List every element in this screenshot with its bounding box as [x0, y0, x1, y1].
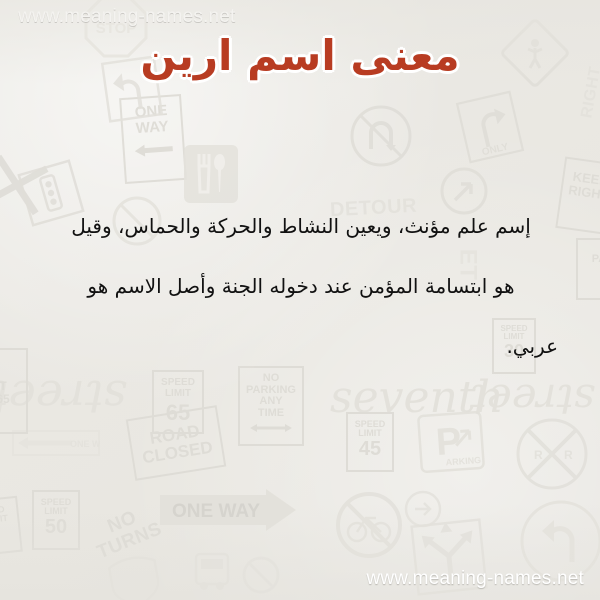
meaning-line: إسم علم مؤنث، ويعين النشاط والحركة والحم…: [44, 196, 558, 256]
sign-label: ROADCLOSED: [141, 421, 214, 467]
sign-no-parking: NOPARKINGANYTIME: [238, 366, 304, 446]
sign-road-closed: ROADCLOSED: [126, 405, 227, 481]
sign-value: 45: [348, 439, 392, 460]
sign-value: 65: [154, 401, 202, 424]
sign-partial-left-lower: EEDLIMIT: [0, 496, 23, 557]
sign-label: PA: [592, 253, 600, 265]
sign-one-way: ONEWAY: [119, 94, 187, 184]
name-meaning-text: إسم علم مؤنث، ويعين النشاط والحركة والحم…: [44, 196, 558, 376]
sign-rr-crossing: R R: [516, 418, 588, 490]
page-canvas: street seventh street ONEWAY: [0, 0, 600, 600]
sign-label: EEDLIMIT: [0, 504, 9, 526]
left-arrow-icon: [132, 140, 175, 159]
sign-parking: P ARKING: [416, 410, 486, 474]
sign-label: NOPARKINGANYTIME: [246, 372, 296, 419]
sign-one-way-arrow: ONE WAY: [158, 487, 298, 533]
sign-one-way-left: ONE WAY: [12, 430, 100, 456]
sign-no-turns: NOTURNS: [87, 501, 165, 563]
sign-bus: [192, 548, 232, 594]
sign-interstate-shield: [104, 552, 166, 600]
sign-food-services: [183, 144, 239, 204]
watermark-top-left: www.meaning-names.net: [18, 6, 236, 28]
sign-label: KEEPRIGHT: [567, 169, 600, 203]
svg-text:ONE WAY: ONE WAY: [70, 439, 100, 449]
sign-small-circle: [242, 556, 280, 594]
sign-partial-right: PA: [576, 238, 600, 300]
svg-text:P: P: [435, 420, 463, 464]
sign-right-turn-only: ONLY: [456, 90, 525, 163]
sign-right-arrow-circle: [404, 490, 442, 528]
sign-value: 50: [34, 517, 78, 538]
meaning-line: عربي.: [44, 316, 558, 376]
sign-label: SPEEDLIMIT: [161, 377, 195, 399]
sign-label: SPEEDLIMIT: [355, 419, 386, 438]
svg-text:ONE WAY: ONE WAY: [172, 501, 260, 522]
sign-partial-left: T65: [0, 348, 28, 434]
brand-ghost-text: street: [470, 375, 595, 424]
brand-ghost-text: seventh: [330, 372, 504, 423]
sign-label: T65: [0, 379, 10, 406]
sign-keep-right: KEEPRIGHT: [555, 156, 600, 235]
sign-no-u-turn: [350, 105, 412, 167]
sign-speed-limit-50: SPEEDLIMIT 50: [32, 490, 80, 550]
brand-ghost-text: street: [0, 370, 127, 424]
sign-label: ONEWAY: [122, 102, 182, 137]
svg-text:R: R: [534, 448, 543, 462]
sign-speed-limit-45: SPEEDLIMIT 45: [346, 412, 394, 472]
sign-label: SPEEDLIMIT: [41, 497, 72, 516]
meaning-line: هو ابتسامة المؤمن عند دخوله الجنة وأصل ا…: [44, 256, 558, 316]
svg-text:ONLY: ONLY: [481, 141, 510, 158]
svg-text:ARKING: ARKING: [445, 455, 481, 467]
double-arrow-icon: [249, 422, 293, 434]
sign-no-bicycles: [336, 492, 402, 558]
sign-speed-limit-65: SPEEDLIMIT 65: [152, 370, 204, 434]
watermark-bottom-right: www.meaning-names.net: [366, 568, 584, 590]
page-title: معنى اسم ارين: [0, 30, 600, 83]
svg-text:R: R: [564, 448, 573, 462]
